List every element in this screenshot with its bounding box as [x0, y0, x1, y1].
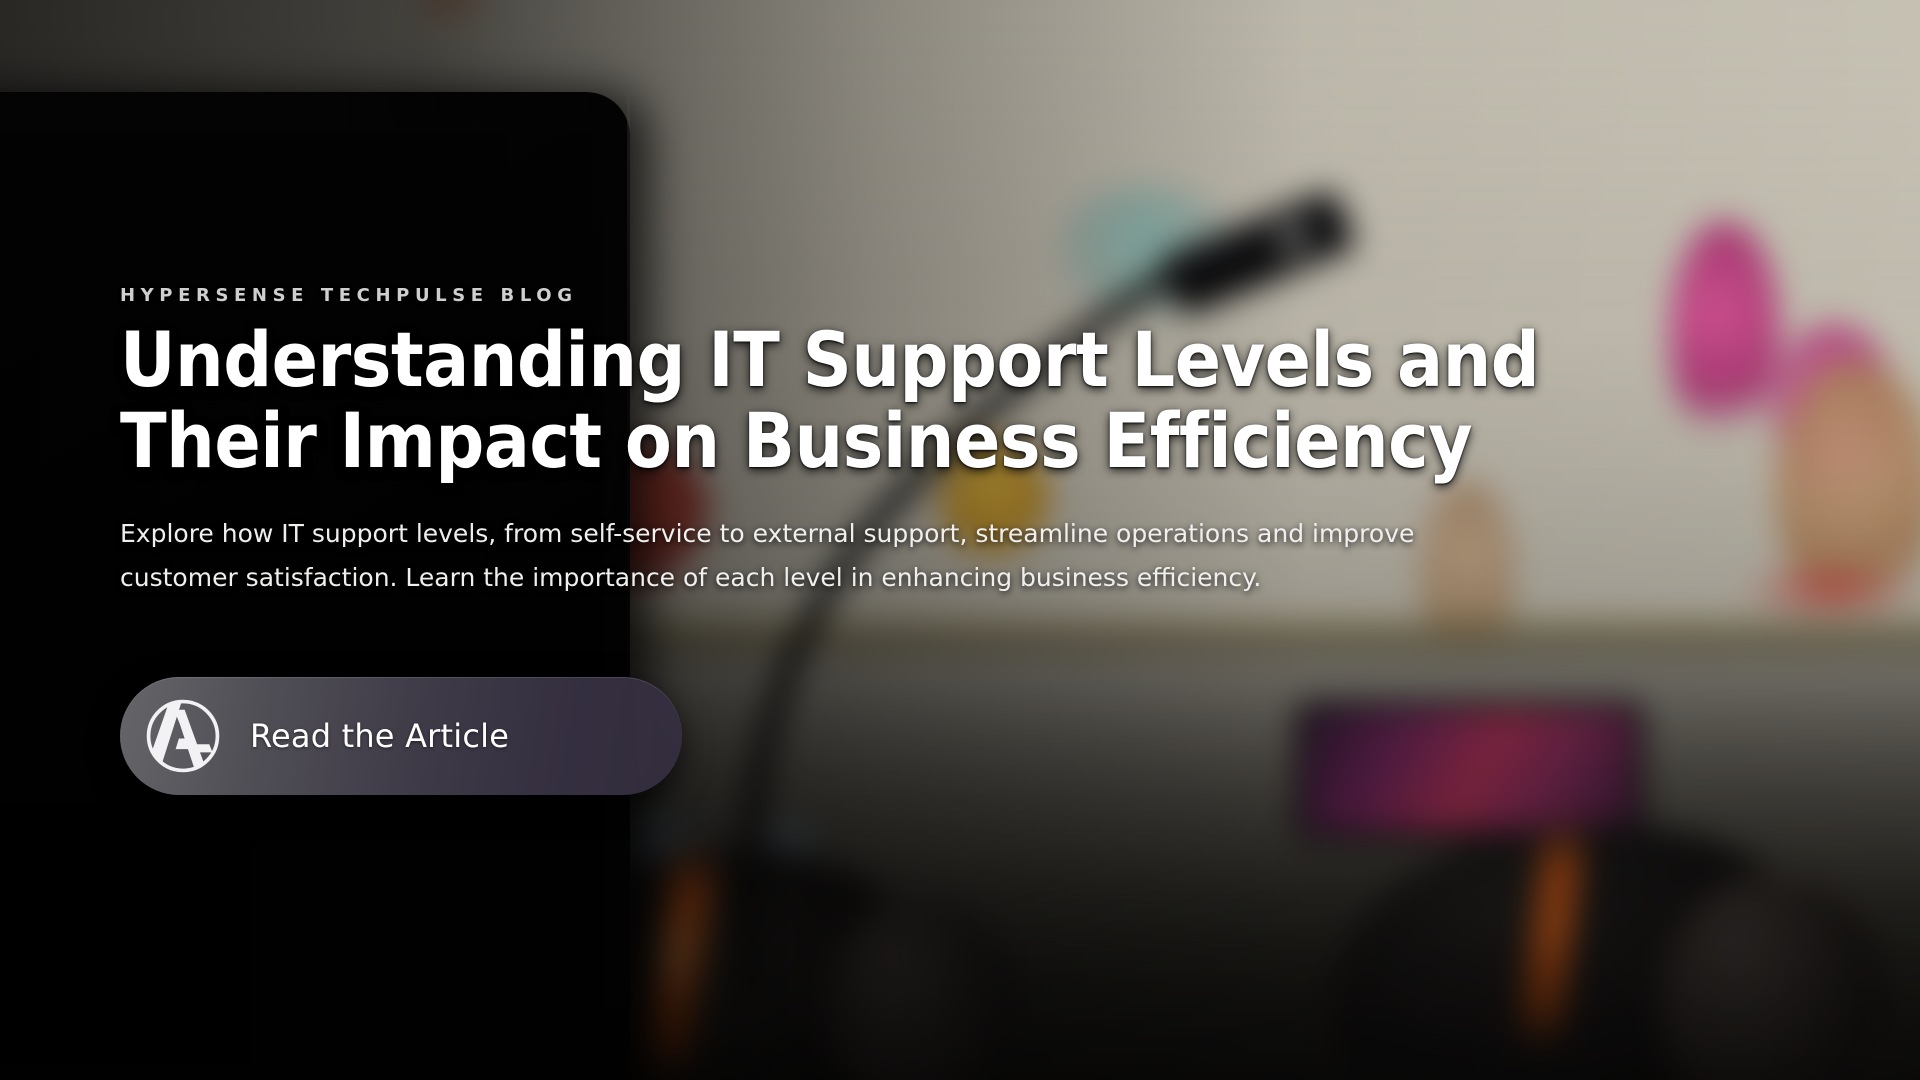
- hero-content: HYPERSENSE TECHPULSE BLOG Understanding …: [120, 0, 1620, 1080]
- hypersense-circle-logo-icon: [142, 695, 224, 777]
- hero-banner: HYPERSENSE TECHPULSE BLOG Understanding …: [0, 0, 1920, 1080]
- page-title: Understanding IT Support Levels and Thei…: [120, 320, 1560, 481]
- hero-eyebrow: HYPERSENSE TECHPULSE BLOG: [120, 285, 1620, 306]
- hero-description: Explore how IT support levels, from self…: [120, 512, 1510, 601]
- read-the-article-label: Read the Article: [250, 717, 509, 755]
- read-the-article-button[interactable]: Read the Article: [120, 677, 682, 795]
